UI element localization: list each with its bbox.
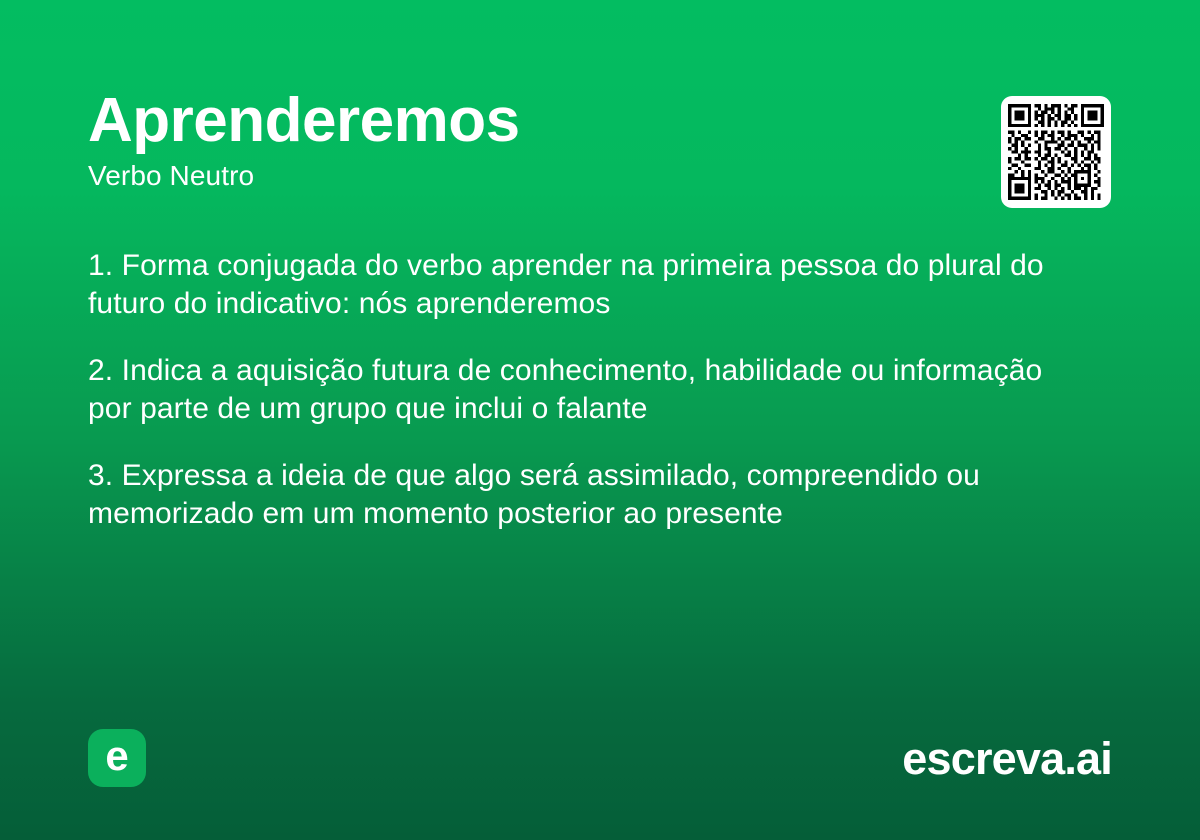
card-footer: e escreva.ai <box>88 728 1112 788</box>
page-title: Aprenderemos <box>88 88 1112 153</box>
definition-item: 3. Expressa a ideia de que algo será ass… <box>88 457 1092 533</box>
qr-code-icon <box>1008 103 1104 201</box>
brand-name: escreva.ai <box>902 736 1112 781</box>
escreva-logo-icon: e <box>88 729 146 787</box>
qr-code-card[interactable] <box>1001 96 1111 208</box>
definition-item: 2. Indica a aquisição futura de conhecim… <box>88 352 1092 428</box>
definition-item: 1. Forma conjugada do verbo aprender na … <box>88 247 1092 323</box>
card-header: Aprenderemos Verbo Neutro <box>88 88 1112 193</box>
dictionary-card: Aprenderemos Verbo Neutro <box>0 0 1200 840</box>
definition-list: 1. Forma conjugada do verbo aprender na … <box>88 247 1092 533</box>
word-class-label: Verbo Neutro <box>88 159 1112 193</box>
